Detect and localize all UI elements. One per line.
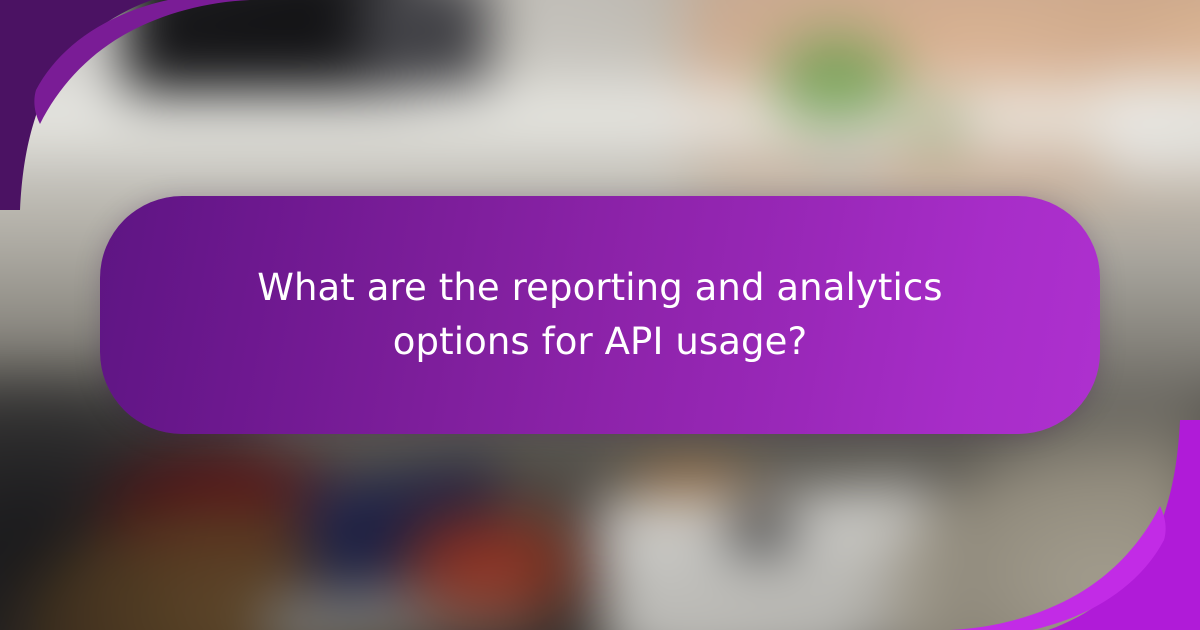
question-card-banner: What are the reporting and analytics opt… <box>0 0 1200 630</box>
question-text: What are the reporting and analytics opt… <box>200 261 1000 370</box>
question-card: What are the reporting and analytics opt… <box>100 196 1100 434</box>
